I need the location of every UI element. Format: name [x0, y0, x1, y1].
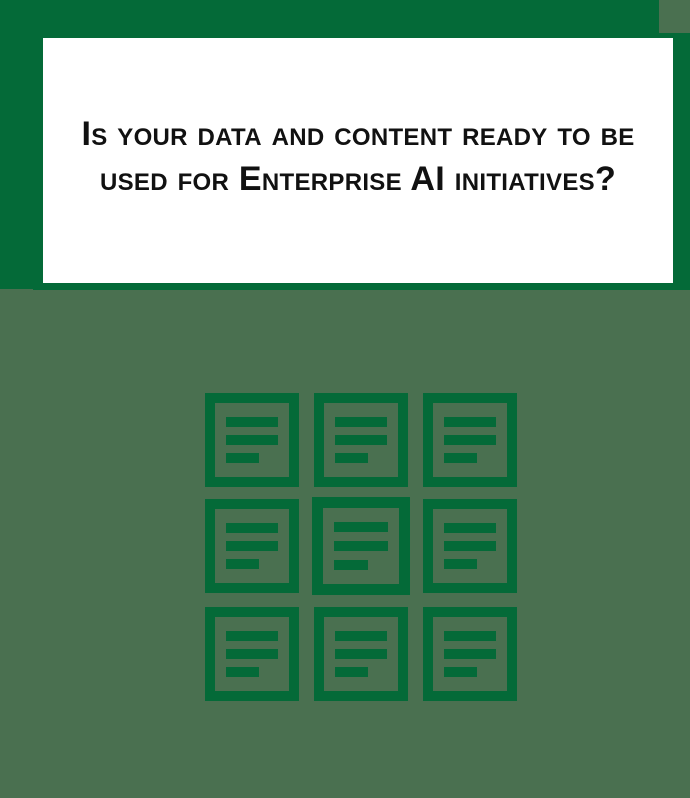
document-icon[interactable] — [205, 607, 299, 701]
document-grid — [205, 392, 517, 702]
document-line — [334, 541, 388, 551]
document-line — [334, 560, 368, 570]
document-icon[interactable] — [314, 393, 408, 487]
document-icon[interactable] — [423, 499, 517, 593]
document-line — [226, 541, 278, 551]
document-grid-row — [205, 496, 517, 596]
document-line — [444, 523, 496, 533]
document-line — [226, 435, 278, 445]
document-icon[interactable] — [314, 607, 408, 701]
document-icon[interactable] — [205, 499, 299, 593]
hero-banner: Is your data and content ready to be use… — [0, 0, 690, 300]
document-line — [335, 667, 368, 677]
document-line — [444, 541, 496, 551]
document-line — [335, 453, 368, 463]
document-line — [335, 631, 387, 641]
document-line — [444, 649, 496, 659]
document-line — [444, 453, 477, 463]
document-line — [444, 435, 496, 445]
document-icon[interactable] — [312, 497, 410, 595]
document-line — [335, 649, 387, 659]
document-line — [444, 631, 496, 641]
document-line — [335, 435, 387, 445]
document-line — [444, 667, 477, 677]
document-line — [226, 631, 278, 641]
hero-corner-cut — [0, 289, 33, 300]
document-icon[interactable] — [423, 393, 517, 487]
document-line — [226, 523, 278, 533]
document-icon[interactable] — [423, 607, 517, 701]
document-icon[interactable] — [205, 393, 299, 487]
document-line — [444, 559, 477, 569]
document-grid-row — [205, 392, 517, 488]
hero-card: Is your data and content ready to be use… — [43, 38, 673, 283]
document-line — [226, 667, 259, 677]
document-line — [226, 649, 278, 659]
hero-corner-notch — [659, 0, 690, 33]
document-line — [226, 417, 278, 427]
page-title: Is your data and content ready to be use… — [67, 112, 649, 200]
document-line — [334, 522, 388, 532]
document-line — [226, 559, 259, 569]
document-line — [226, 453, 259, 463]
document-line — [335, 417, 387, 427]
document-grid-row — [205, 606, 517, 702]
document-line — [444, 417, 496, 427]
